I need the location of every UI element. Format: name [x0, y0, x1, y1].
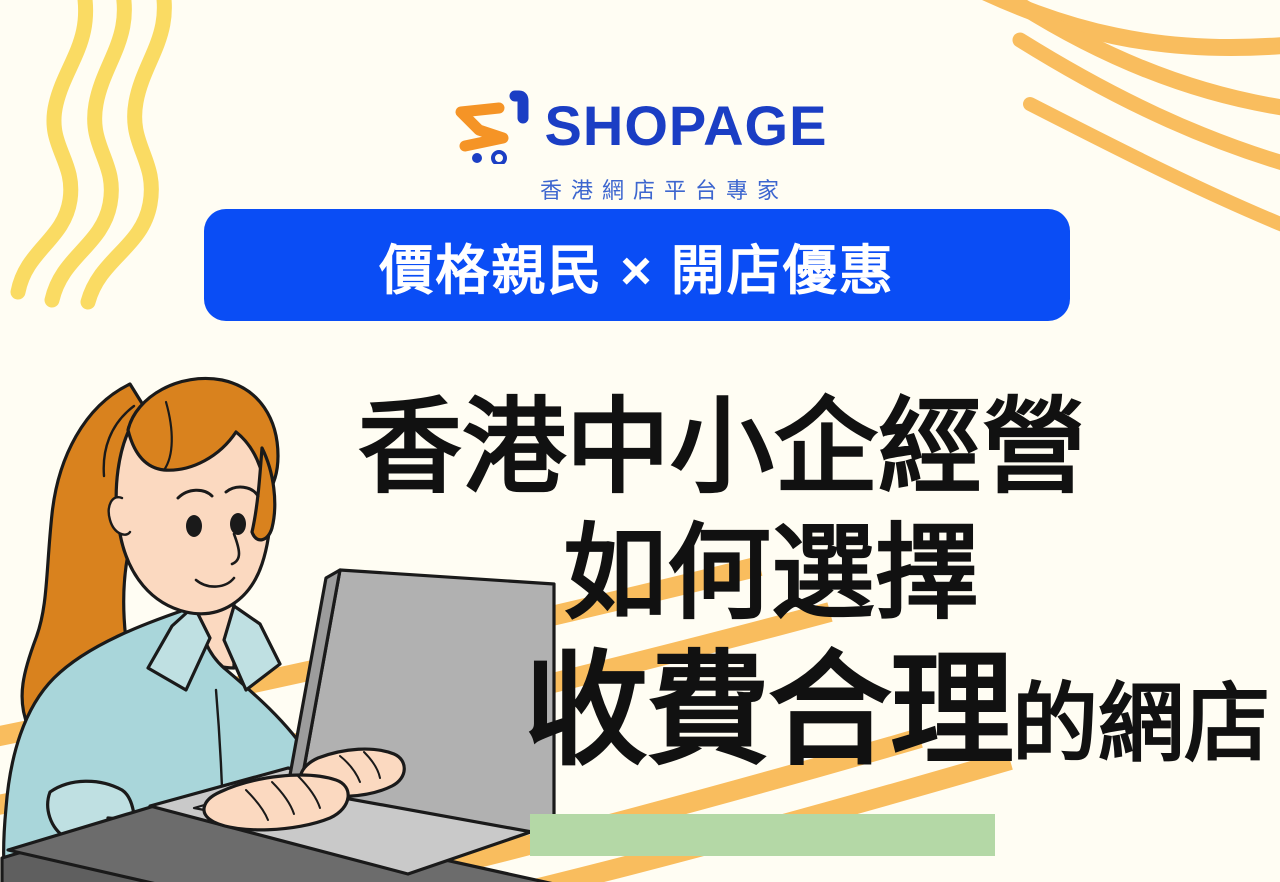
headline-line-1: 香港中小企經營: [330, 392, 1270, 504]
headline-emphasis: 收費合理: [524, 642, 1012, 780]
eye-left: [186, 515, 202, 537]
promo-banner-canvas: SHOPAGE 香港網店平台專家 價格親民 × 開店優惠 香港中小企經營 如何選…: [0, 0, 1280, 882]
brand-logo: SHOPAGE 香港網店平台專家: [0, 88, 1280, 205]
logo-subtitle: 香港網店平台專家: [540, 173, 788, 205]
shopping-cart-icon: [453, 88, 531, 164]
promo-banner-text: 價格親民 × 開店優惠: [379, 226, 895, 305]
eye-right: [230, 513, 246, 535]
headline-block: 香港中小企經營 如何選擇 收費合理的網店: [330, 392, 1270, 779]
cart-wheel-left: [472, 153, 482, 163]
text-highlight-marker: [530, 814, 995, 856]
headline-line-3: 收費合理的網店: [330, 645, 1270, 779]
cart-wheel-right: [493, 152, 505, 164]
headline-line-3-rest: 的網店: [1012, 676, 1270, 772]
logo-wordmark: SHOPAGE: [545, 98, 828, 154]
promo-banner-pill: 價格親民 × 開店優惠: [204, 209, 1070, 321]
headline-line-2: 如何選擇: [330, 518, 1270, 630]
